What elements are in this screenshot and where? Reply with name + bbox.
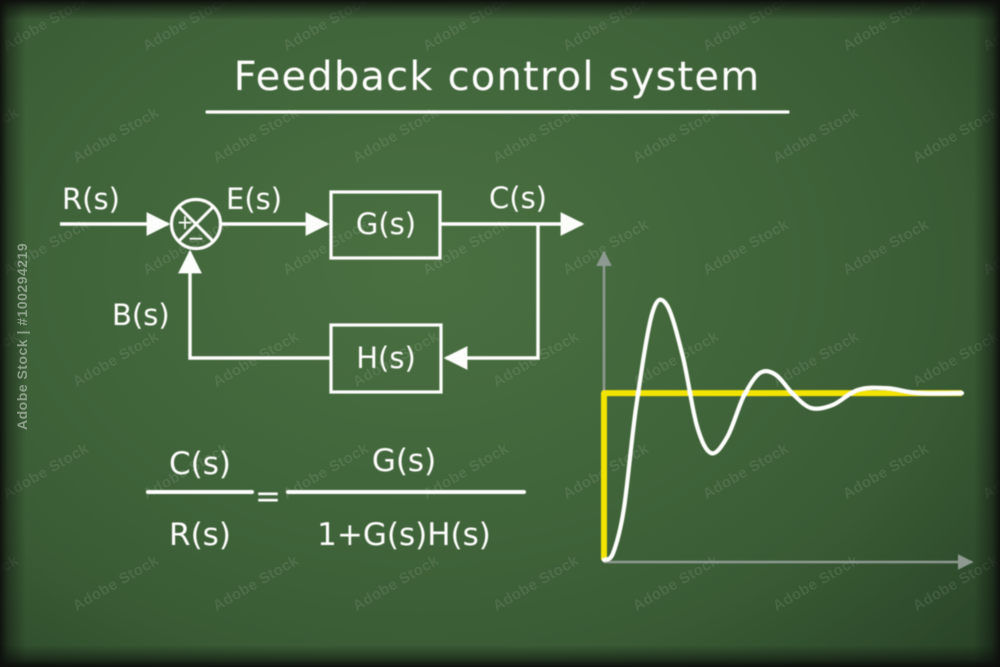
step-response-chart	[604, 252, 972, 562]
formula-right-numerator: G(s)	[372, 443, 436, 479]
feedback-block: H(s)	[331, 325, 441, 392]
chart-series-step-reference	[604, 393, 962, 560]
formula-left-denominator: R(s)	[169, 517, 231, 553]
plant-block: G(s)	[331, 192, 440, 258]
error-signal-label: E(s)	[226, 182, 282, 216]
diagram-canvas: Feedback control system R(s) + − E(s) G(…	[0, 0, 1000, 667]
formula-right-denominator: 1+G(s)H(s)	[317, 517, 491, 553]
plant-block-label: G(s)	[356, 207, 416, 241]
input-signal-label: R(s)	[62, 182, 120, 216]
feedback-block-label: H(s)	[356, 341, 416, 375]
minus-sign: −	[188, 226, 205, 250]
feedback-return-line	[190, 252, 331, 358]
output-signal-label: C(s)	[489, 181, 547, 215]
transfer-function-formula: C(s) R(s) = G(s) 1+G(s)H(s)	[148, 443, 524, 553]
page-title: Feedback control system	[234, 54, 761, 100]
chart-series-step-response	[604, 300, 962, 560]
feedback-signal-label: B(s)	[112, 298, 170, 332]
chalkboard-illustration: Adobe StockAdobe StockAdobe StockAdobe S…	[0, 0, 1000, 667]
formula-left-numerator: C(s)	[169, 446, 231, 482]
summing-junction: + −	[172, 200, 221, 251]
feedback-branch-line	[446, 224, 538, 358]
formula-equals-sign: =	[255, 479, 281, 515]
